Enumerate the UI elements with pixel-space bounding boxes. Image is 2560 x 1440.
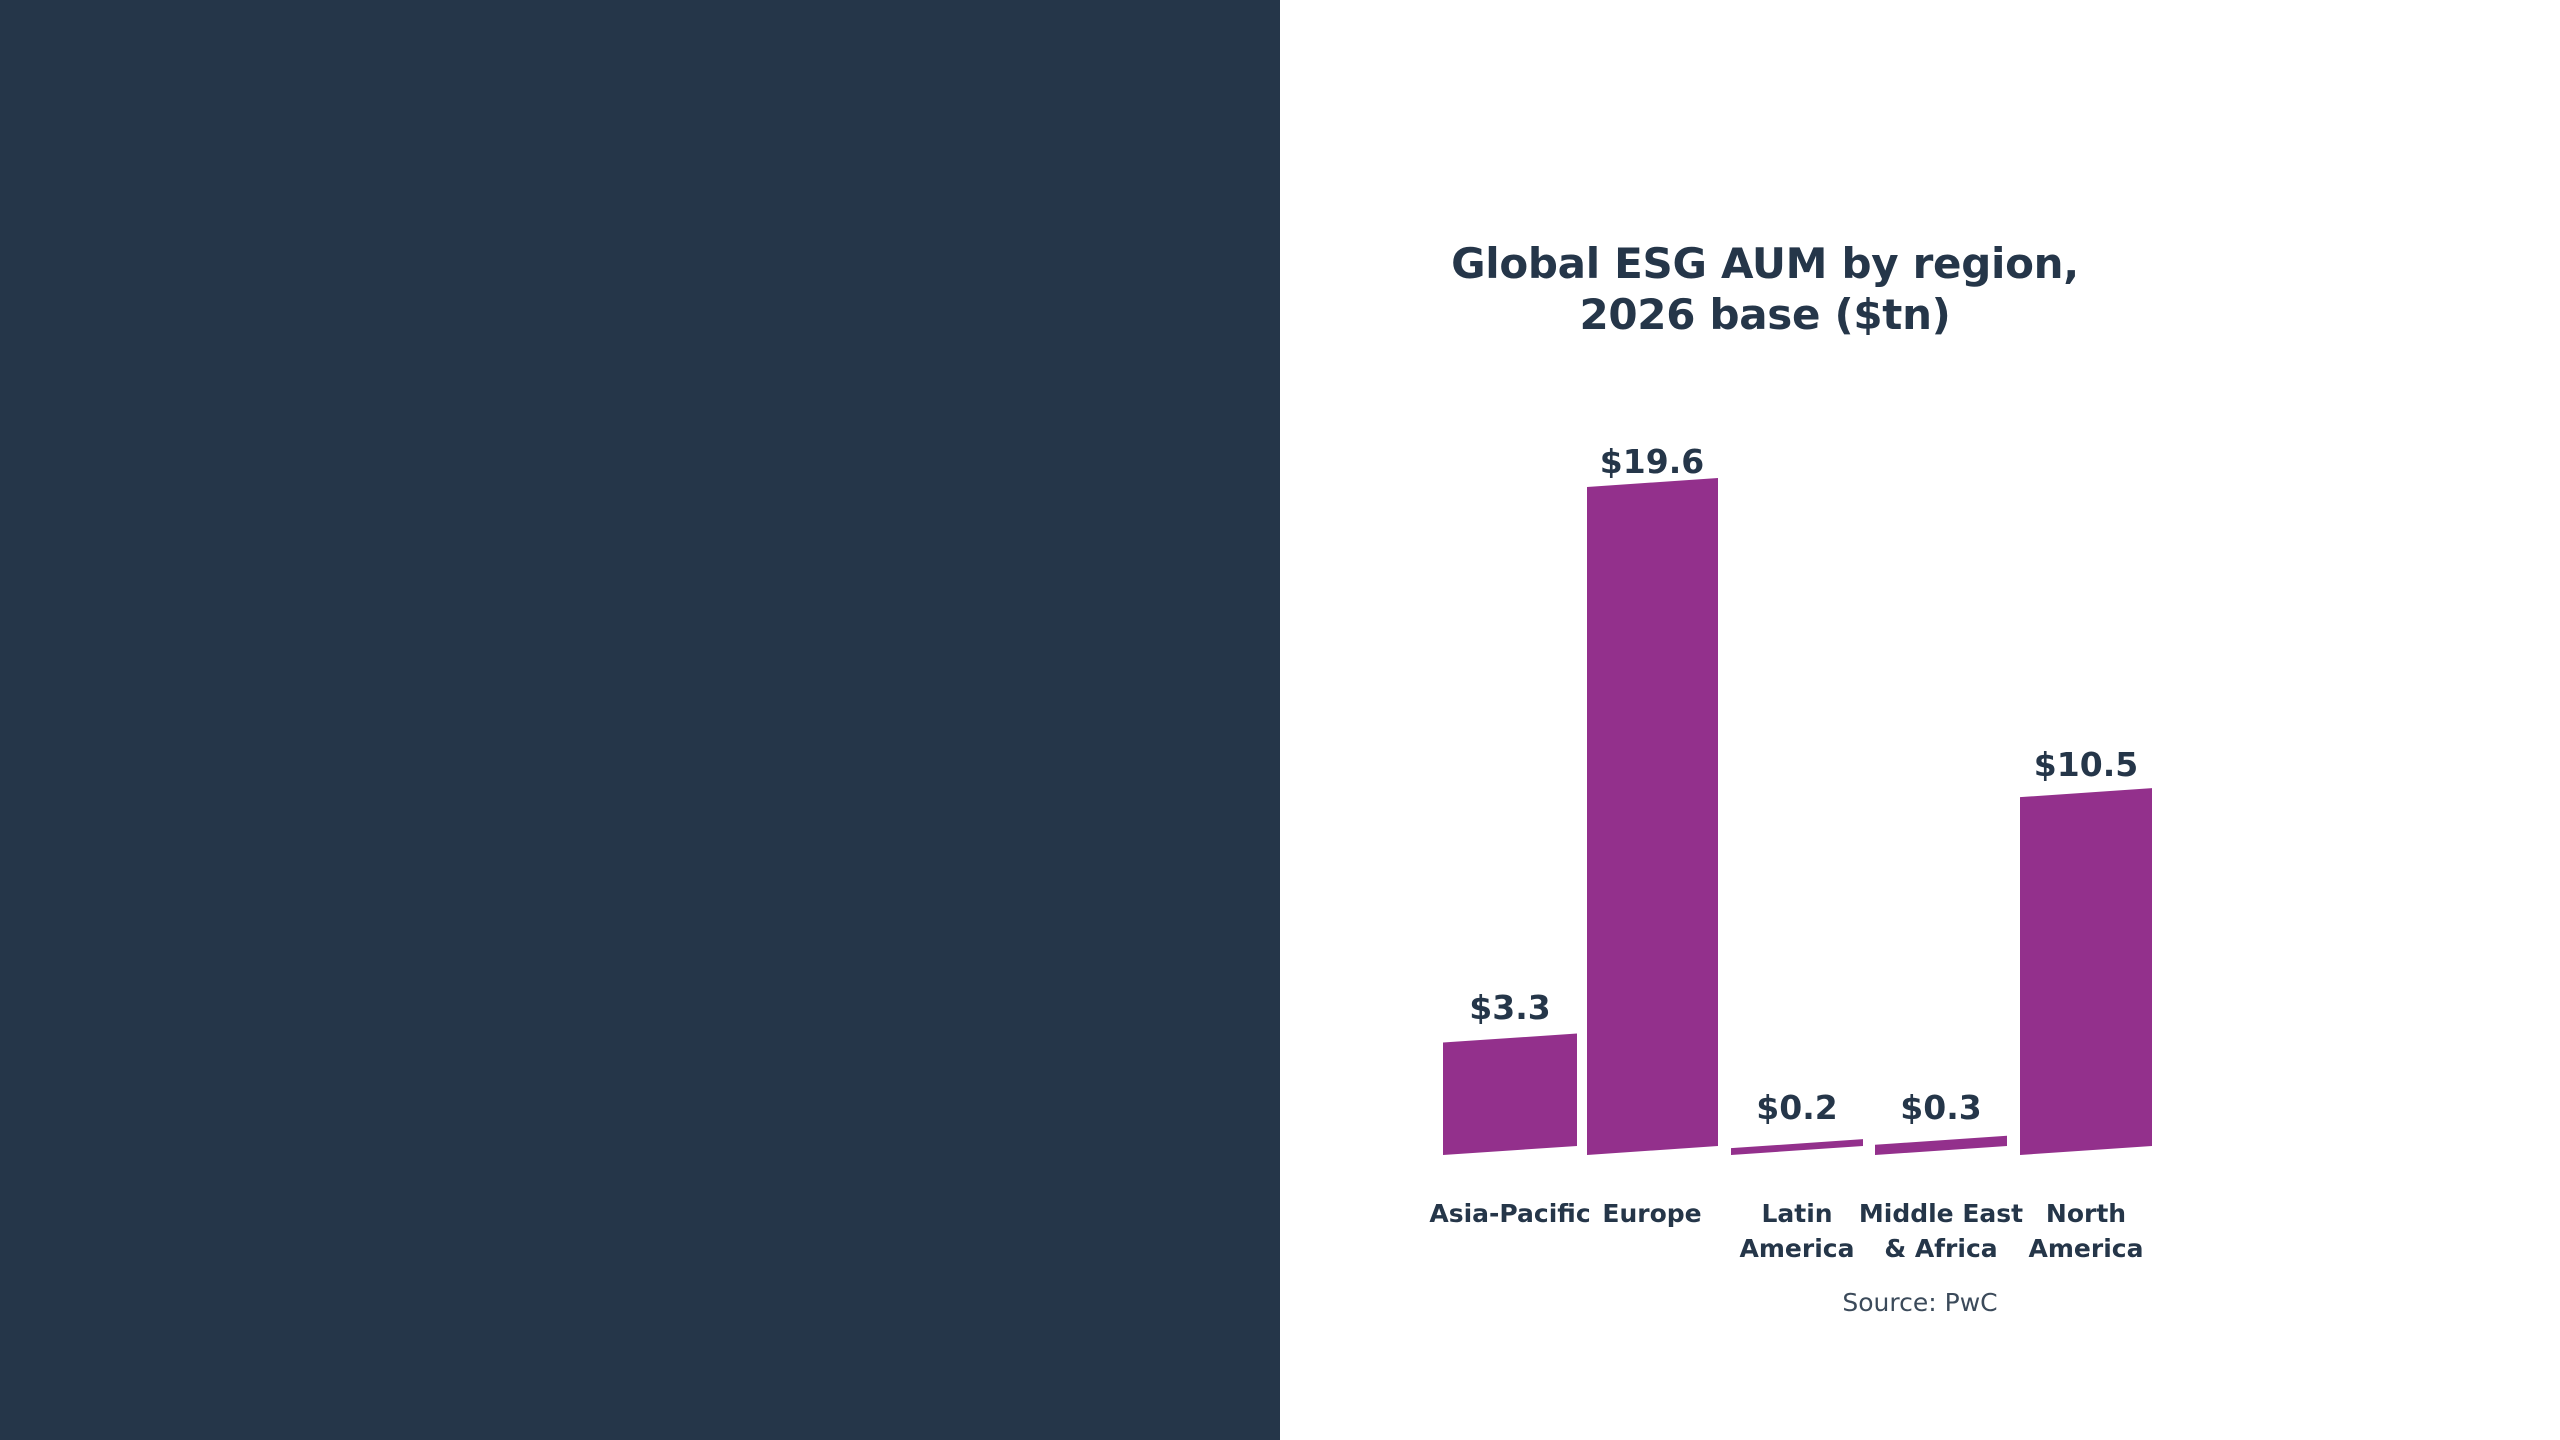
category-label-5: North America bbox=[1971, 1196, 2201, 1266]
bar-3 bbox=[1731, 1139, 1863, 1155]
bar-2 bbox=[1587, 478, 1718, 1155]
source-note: Source: PwC bbox=[1280, 1288, 2560, 1317]
bar-value-label-5: $10.5 bbox=[2034, 745, 2138, 784]
plot-area: $3.3$19.6$0.2$0.3$10.5 Asia-PacificEurop… bbox=[1280, 0, 2560, 1440]
bar-series bbox=[1443, 478, 2152, 1155]
bar-1 bbox=[1443, 1034, 1577, 1155]
blank-dark-panel bbox=[0, 0, 1280, 1440]
chart-panel: Global ESG AUM by region, 2026 base ($tn… bbox=[1280, 0, 2560, 1440]
bar-value-label-1: $3.3 bbox=[1469, 988, 1550, 1027]
bar-5 bbox=[2020, 788, 2152, 1155]
bar-value-label-3: $0.2 bbox=[1756, 1088, 1837, 1127]
bar-value-label-2: $19.6 bbox=[1600, 442, 1704, 481]
bar-4 bbox=[1875, 1136, 2007, 1155]
bar-value-label-4: $0.3 bbox=[1900, 1088, 1981, 1127]
